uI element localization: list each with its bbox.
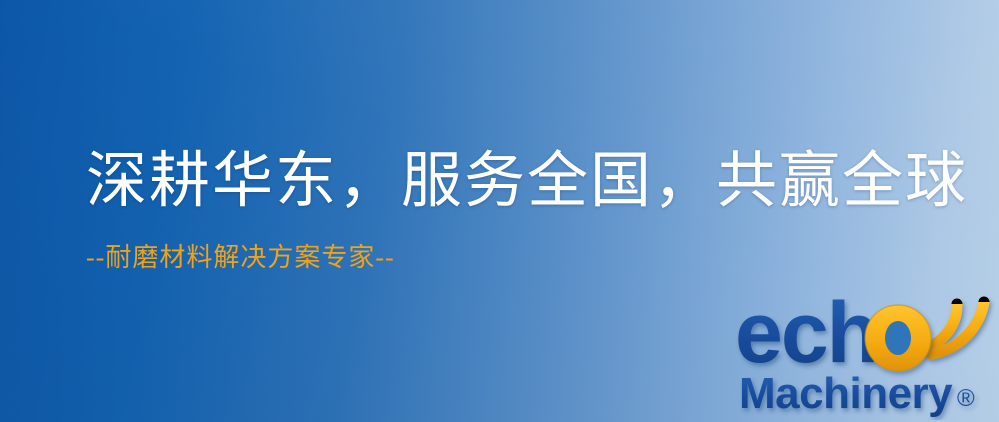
echo-machinery-logo[interactable]: ech Machinery ® <box>735 292 997 420</box>
logo-wordmark-echo: ech <box>735 292 877 381</box>
banner-copy-block: 深耕华东，服务全国，共赢全球 --耐磨材料解决方案专家-- <box>86 148 968 274</box>
registered-trademark-icon: ® <box>957 385 975 412</box>
promo-banner: 深耕华东，服务全国，共赢全球 --耐磨材料解决方案专家-- <box>0 0 999 422</box>
banner-subline: --耐磨材料解决方案专家-- <box>86 216 968 273</box>
logo-tagline-machinery: Machinery <box>739 369 953 418</box>
logo-letter-o <box>865 305 931 371</box>
banner-headline: 深耕华东，服务全国，共赢全球 <box>86 148 968 216</box>
